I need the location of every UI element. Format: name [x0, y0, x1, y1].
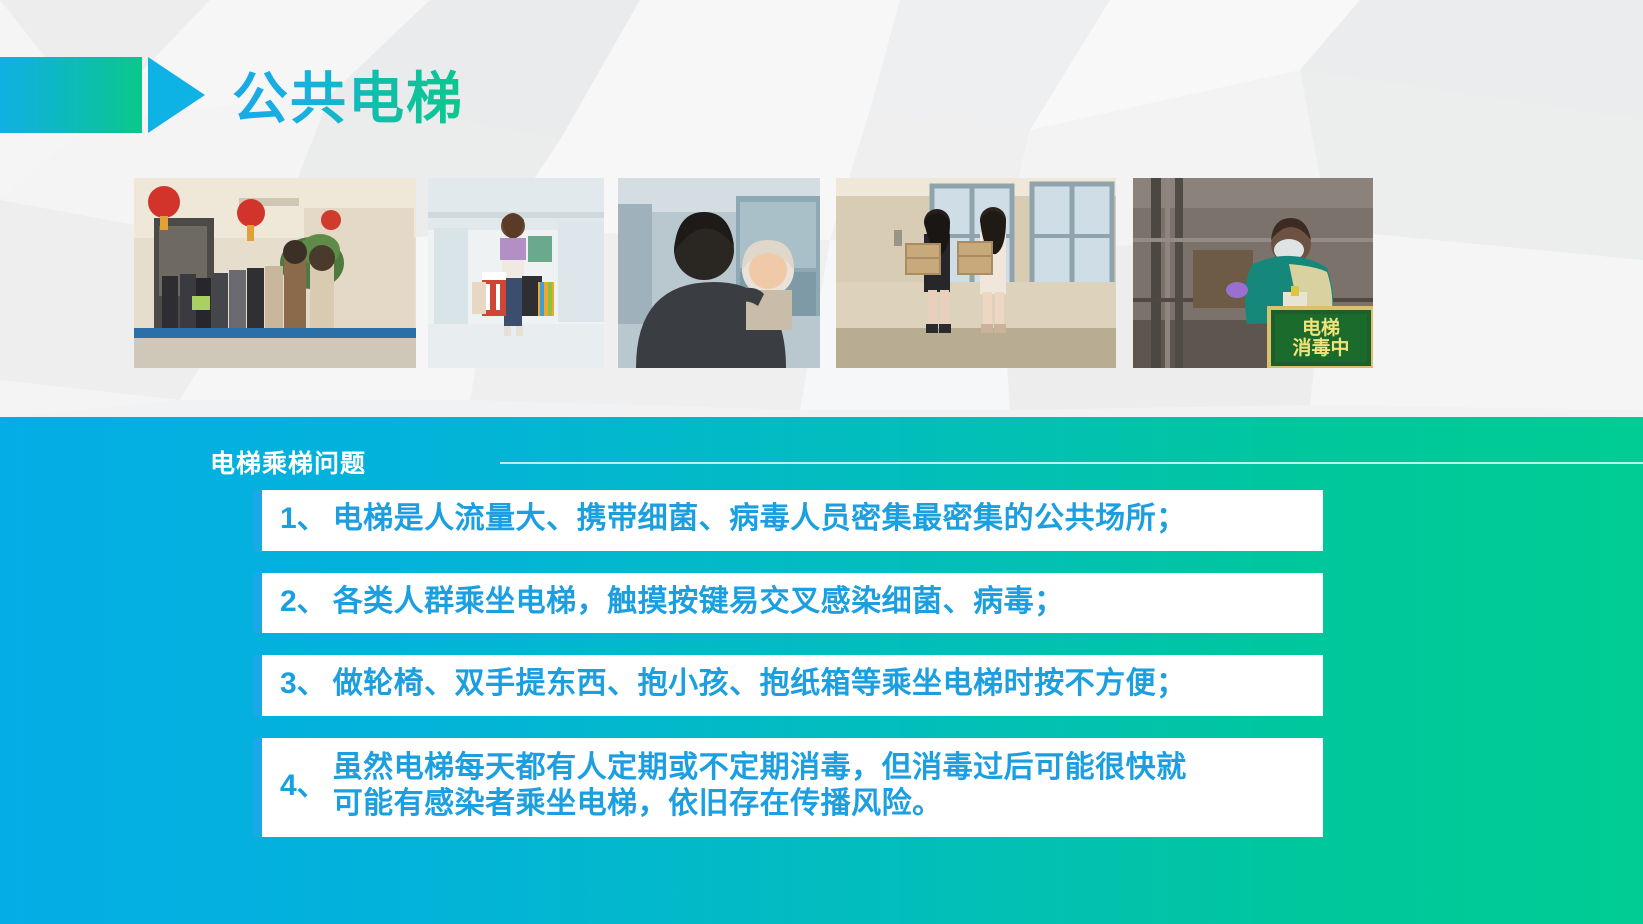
list-item-number: 4、	[280, 768, 333, 805]
content-panel: 电梯乘梯问题 1、 电梯是人流量大、携带细菌、病毒人员密集最密集的公共场所； 2…	[0, 417, 1643, 924]
list-item-text-line-1: 虽然电梯每天都有人定期或不定期消毒，但消毒过后可能很快就	[333, 751, 1187, 784]
list-item-number: 3、	[280, 666, 333, 703]
page-title: 公共电梯	[232, 54, 464, 135]
list-item-number: 2、	[280, 584, 333, 621]
list-item-text: 各类人群乘坐电梯，触摸按键易交叉感染细菌、病毒；	[333, 584, 1065, 621]
svg-text:消毒中: 消毒中	[1292, 336, 1349, 359]
list-item[interactable]: 2、 各类人群乘坐电梯，触摸按键易交叉感染细菌、病毒；	[262, 573, 1323, 634]
photo-shopper-mall	[428, 178, 604, 368]
photo-strip: 电梯 消毒中	[0, 172, 1643, 404]
list-item-text: 电梯是人流量大、携带细菌、病毒人员密集最密集的公共场所；	[333, 501, 1187, 538]
heading-divider	[500, 462, 1643, 464]
list-item[interactable]: 3、 做轮椅、双手提东西、抱小孩、抱纸箱等乘坐电梯时按不方便；	[262, 655, 1323, 716]
slide-root: 公共电梯	[0, 0, 1643, 924]
banner-arrow-icon	[0, 57, 205, 133]
list-item-text: 虽然电梯每天都有人定期或不定期消毒，但消毒过后可能很快就 可能有感染者乘坐电梯，…	[333, 750, 1187, 823]
list-item-text: 做轮椅、双手提东西、抱小孩、抱纸箱等乘坐电梯时按不方便；	[333, 666, 1187, 703]
panel-heading-row: 电梯乘梯问题	[210, 444, 1530, 480]
panel-heading-title: 电梯乘梯问题	[210, 444, 366, 480]
list-item-number: 1、	[280, 501, 333, 538]
list-item-text-line-2: 可能有感染者乘坐电梯，依旧存在传播风险。	[333, 786, 1187, 823]
photo-elevator-disinfection: 电梯 消毒中	[1133, 178, 1373, 368]
photo-man-holding-child	[618, 178, 820, 368]
photo-women-carrying-boxes	[836, 178, 1116, 368]
photo-lobby-queue	[134, 178, 416, 368]
slide-header: 公共电梯	[0, 0, 1643, 172]
list-item[interactable]: 1、 电梯是人流量大、携带细菌、病毒人员密集最密集的公共场所；	[262, 490, 1323, 551]
svg-text:电梯: 电梯	[1302, 316, 1340, 339]
statement-list: 1、 电梯是人流量大、携带细菌、病毒人员密集最密集的公共场所； 2、 各类人群乘…	[0, 490, 1643, 859]
list-item[interactable]: 4、 虽然电梯每天都有人定期或不定期消毒，但消毒过后可能很快就 可能有感染者乘坐…	[262, 738, 1323, 837]
